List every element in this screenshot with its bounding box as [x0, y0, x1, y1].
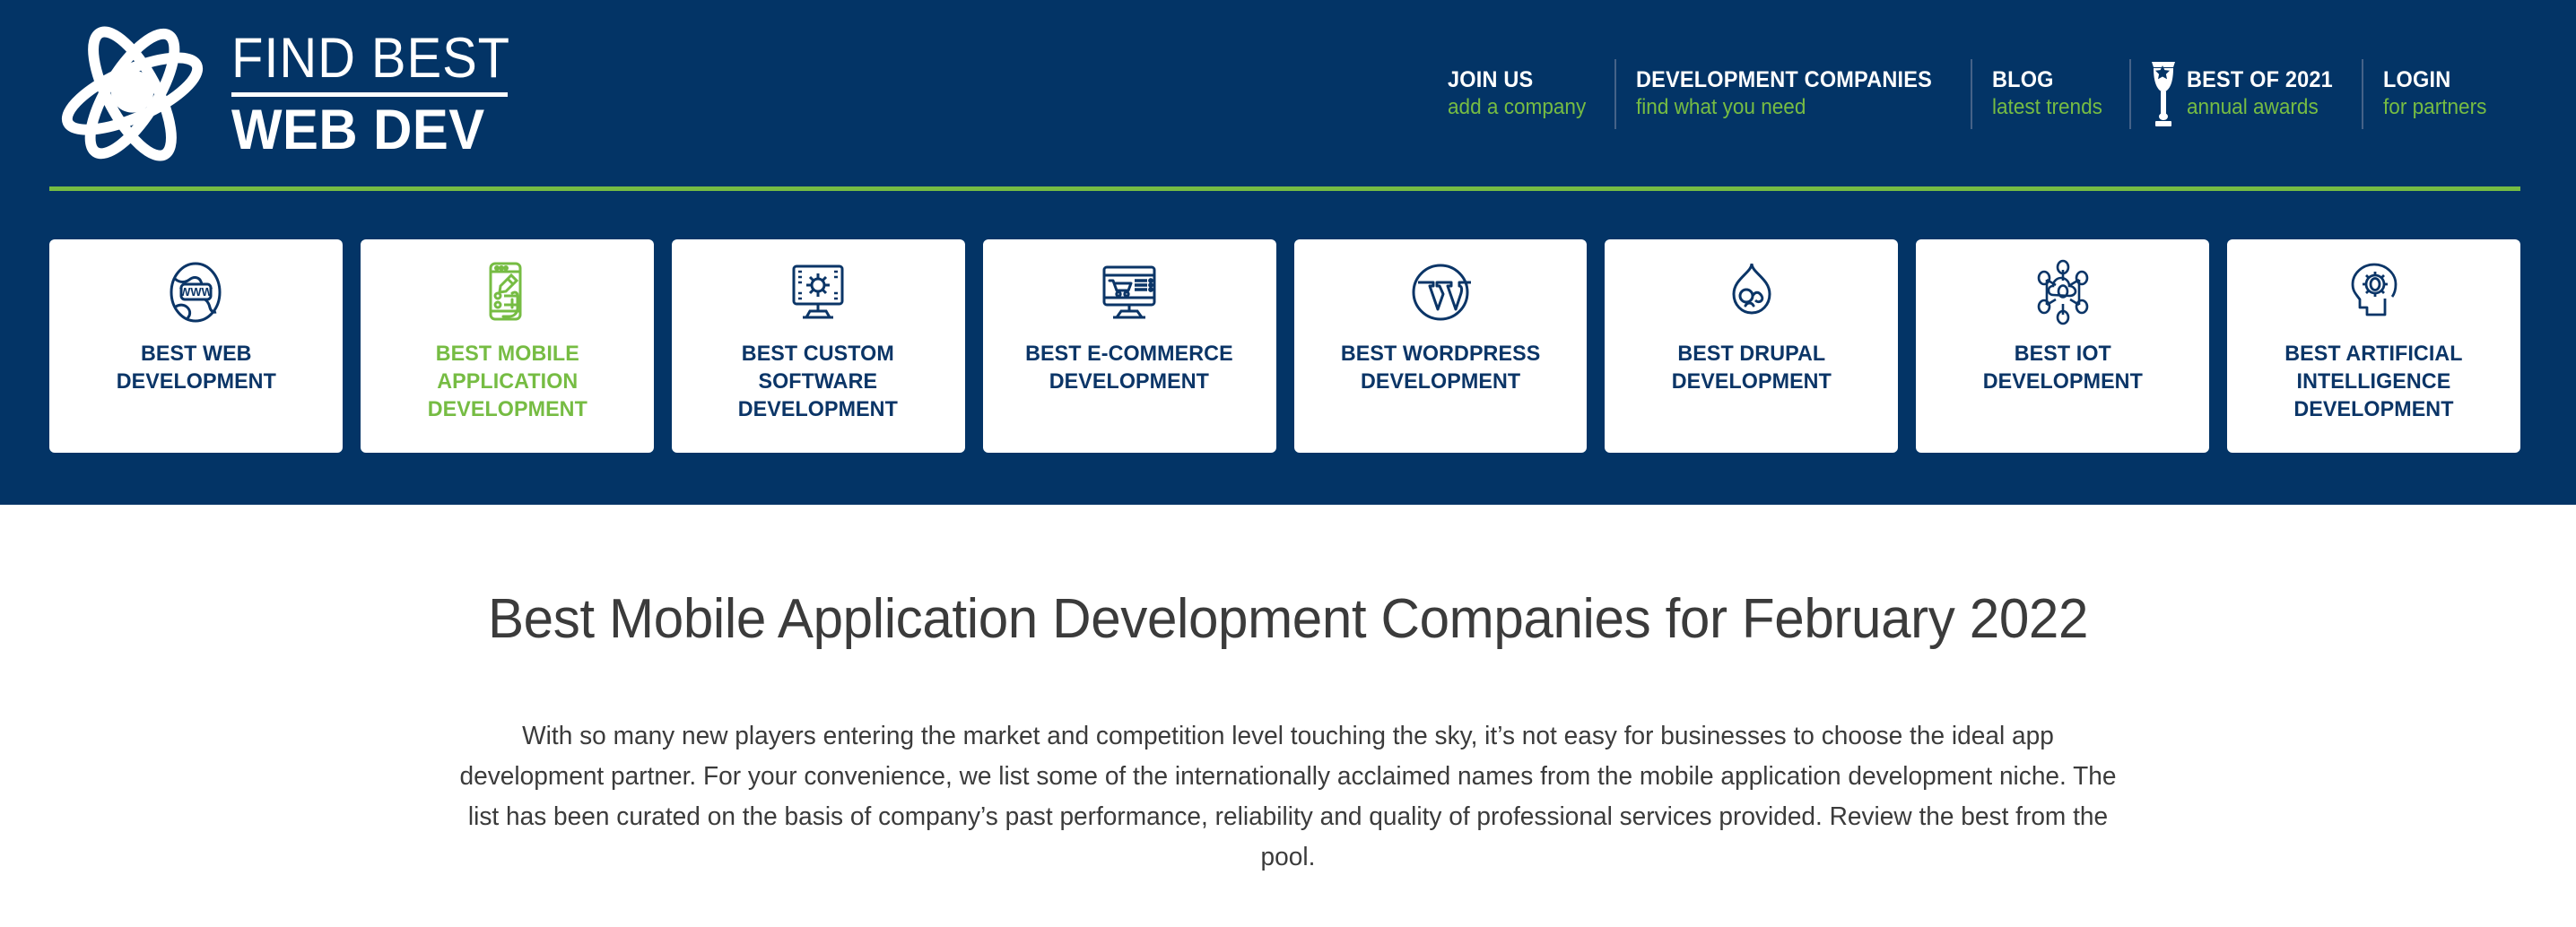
intro-paragraph: With so many new players entering the ma… [448, 716, 2128, 878]
nav-title: LOGIN [2383, 66, 2486, 93]
iot-network-icon [2030, 259, 2096, 325]
page-title: Best Mobile Application Development Comp… [39, 587, 2537, 652]
nav-subtitle: find what you need [1636, 93, 1932, 122]
category-card-label: BEST E-COMMERCEDEVELOPMENT [1025, 340, 1233, 395]
logo-line-1: FIND BEST [231, 30, 510, 86]
category-card-label: BEST ARTIFICIALINTELLIGENCEDEVELOPMENT [2284, 340, 2462, 423]
category-card-row: WWW BEST WEBDEVELOPMENT [49, 239, 2520, 453]
site-header: FIND BEST WEB DEV JOIN US add a company … [0, 0, 2576, 505]
category-card-ecommerce-development[interactable]: BEST E-COMMERCEDEVELOPMENT [983, 239, 1276, 453]
svg-text:WWW: WWW [180, 285, 214, 299]
nav-subtitle: for partners [2383, 93, 2486, 122]
category-card-drupal-development[interactable]: BEST DRUPALDEVELOPMENT [1605, 239, 1898, 453]
category-card-artificial-intelligence-development[interactable]: BEST ARTIFICIALINTELLIGENCEDEVELOPMENT [2227, 239, 2520, 453]
nav-item-development-companies[interactable]: DEVELOPMENT COMPANIES find what you need [1614, 59, 1971, 129]
trophy-icon [2145, 60, 2181, 128]
category-card-iot-development[interactable]: BEST IOTDEVELOPMENT [1916, 239, 2209, 453]
header-green-divider [49, 186, 2520, 191]
atom-icon [49, 22, 215, 166]
nav-title: BLOG [1992, 66, 2102, 93]
category-card-label: BEST CUSTOMSOFTWAREDEVELOPMENT [738, 340, 898, 423]
category-card-label: BEST WEBDEVELOPMENT [116, 340, 275, 395]
monitor-gear-icon [785, 259, 851, 325]
category-card-label: BEST WORDPRESSDEVELOPMENT [1341, 340, 1540, 395]
page-root: FIND BEST WEB DEV JOIN US add a company … [0, 0, 2576, 927]
category-card-web-development[interactable]: WWW BEST WEBDEVELOPMENT [49, 239, 343, 453]
wordpress-icon [1407, 259, 1474, 325]
category-card-wordpress-development[interactable]: BEST WORDPRESSDEVELOPMENT [1294, 239, 1588, 453]
nav-subtitle: latest trends [1992, 93, 2102, 122]
monitor-cart-icon [1096, 259, 1162, 325]
category-card-label: BEST DRUPALDEVELOPMENT [1672, 340, 1832, 395]
nav-item-login[interactable]: LOGIN for partners [2362, 59, 2513, 129]
nav-item-blog[interactable]: BLOG latest trends [1971, 59, 2129, 129]
nav-title: DEVELOPMENT COMPANIES [1636, 66, 1932, 93]
ai-head-gear-icon [2341, 259, 2407, 325]
drupal-droplet-icon [1719, 259, 1785, 325]
category-card-custom-software-development[interactable]: BEST CUSTOMSOFTWAREDEVELOPMENT [672, 239, 965, 453]
nav-item-join-us[interactable]: JOIN US add a company [1428, 59, 1614, 129]
nav-title: JOIN US [1448, 66, 1586, 93]
globe-www-icon: WWW [162, 259, 229, 325]
category-card-mobile-application-development[interactable]: BEST MOBILEAPPLICATIONDEVELOPMENT [361, 239, 654, 453]
logo-line-2: WEB DEV [231, 102, 519, 158]
nav-subtitle: add a company [1448, 93, 1586, 122]
nav-title: BEST OF 2021 [2187, 66, 2333, 93]
top-navigation: JOIN US add a company DEVELOPMENT COMPAN… [1428, 51, 2513, 137]
site-logo[interactable]: FIND BEST WEB DEV [49, 22, 535, 166]
logo-wordmark: FIND BEST WEB DEV [231, 30, 535, 158]
header-top-bar: FIND BEST WEB DEV JOIN US add a company … [0, 0, 2576, 188]
logo-divider [231, 92, 508, 97]
main-content: Best Mobile Application Development Comp… [0, 505, 2576, 878]
nav-item-best-of-2021[interactable]: BEST OF 2021 annual awards [2129, 59, 2362, 129]
category-card-label: BEST MOBILEAPPLICATIONDEVELOPMENT [427, 340, 587, 423]
nav-subtitle: annual awards [2187, 93, 2333, 122]
hand-phone-icon [474, 259, 540, 325]
category-card-label: BEST IOTDEVELOPMENT [1983, 340, 2143, 395]
